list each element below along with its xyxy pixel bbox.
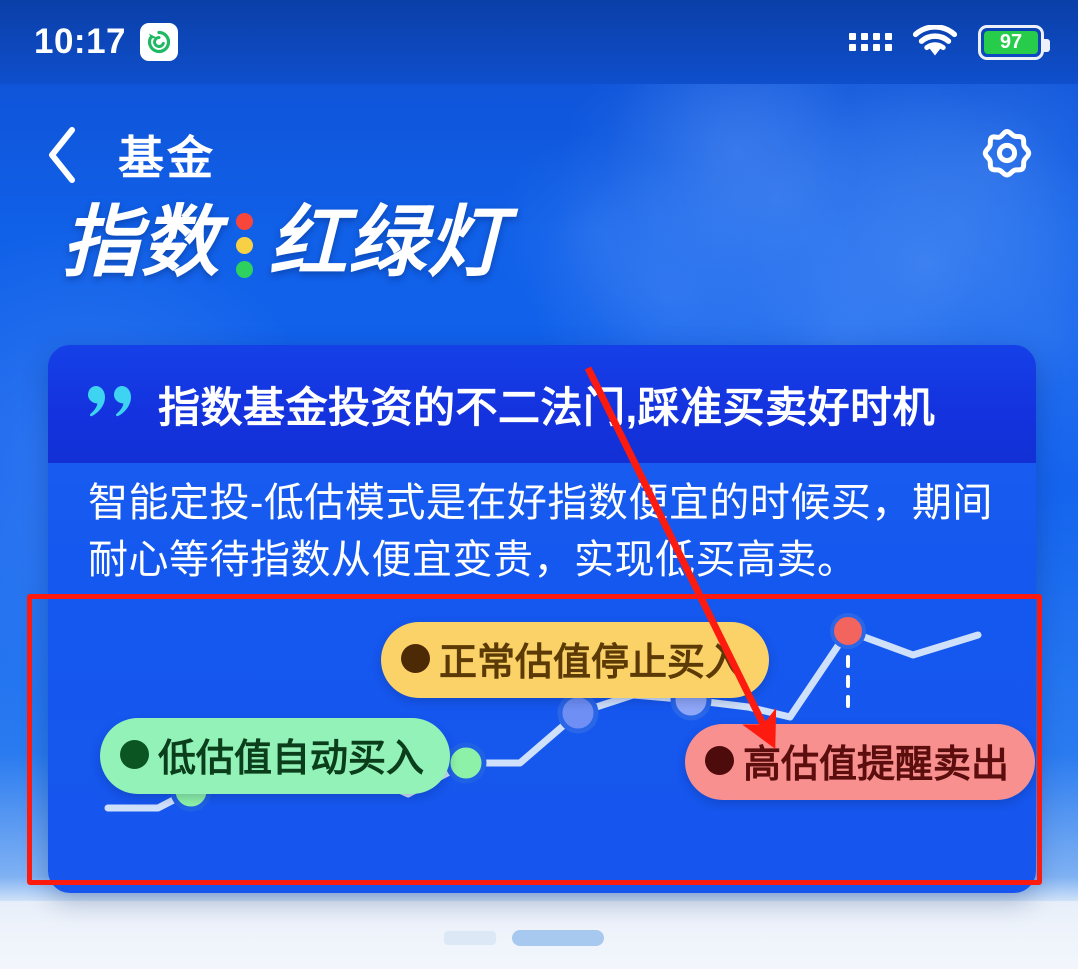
traffic-dot-green-icon xyxy=(236,261,253,278)
card-body-text: 智能定投-低估模式是在好指数便宜的时候买，期间耐心等待指数从便宜变贵，实现低买高… xyxy=(88,475,998,589)
traffic-light-dots-icon xyxy=(236,207,253,278)
home-ghost-bar xyxy=(444,931,496,945)
status-bar: 10:17 97 xyxy=(0,0,1078,84)
badge-normal-bullet-icon xyxy=(401,644,430,673)
badge-normal-valuation[interactable]: 正常估值停止买入 xyxy=(381,622,769,698)
badge-low-bullet-icon xyxy=(120,740,149,769)
card-banner: 指数基金投资的不二法门,踩准买卖好时机 xyxy=(48,345,1036,463)
quote-mark-icon xyxy=(86,384,138,428)
refresh-circle-icon xyxy=(140,23,178,61)
home-indicator-bar[interactable] xyxy=(512,930,604,946)
chart-point-high-1[interactable] xyxy=(832,615,864,647)
badge-high-valuation[interactable]: 高估值提醒卖出 xyxy=(685,724,1035,800)
status-bar-left: 10:17 xyxy=(34,22,178,62)
badge-normal-label: 正常估值停止买入 xyxy=(439,631,743,686)
phone-screen: 10:17 97 xyxy=(0,0,1078,969)
badge-low-valuation[interactable]: 低估值自动买入 xyxy=(100,718,450,794)
badge-high-bullet-icon xyxy=(705,746,734,775)
hero-title: 指数 红绿灯 xyxy=(62,203,506,281)
traffic-dot-yellow-icon xyxy=(236,237,253,254)
badge-low-label: 低估值自动买入 xyxy=(158,727,424,782)
page-title: 基金 xyxy=(118,122,216,188)
home-indicator-area xyxy=(0,901,1078,969)
hero-word-right: 红绿灯 xyxy=(269,203,506,281)
status-bar-right: 97 xyxy=(849,25,1044,60)
battery-fill: 97 xyxy=(984,31,1038,54)
battery-icon: 97 xyxy=(978,25,1044,60)
badge-high-label: 高估值提醒卖出 xyxy=(743,733,1009,788)
settings-button[interactable] xyxy=(968,114,1046,192)
navigation-bar: 基金 xyxy=(0,110,1078,200)
traffic-dot-red-icon xyxy=(236,213,253,230)
signal-dots-icon xyxy=(849,33,892,51)
chart-point-low-3[interactable] xyxy=(448,745,484,781)
gear-icon xyxy=(974,120,1040,186)
hero-word-left: 指数 xyxy=(62,203,220,281)
status-bar-clock: 10:17 xyxy=(34,22,126,62)
content-card: 指数基金投资的不二法门,踩准买卖好时机 智能定投-低估模式是在好指数便宜的时候买… xyxy=(48,345,1036,893)
card-banner-text: 指数基金投资的不二法门,踩准买卖好时机 xyxy=(158,374,935,435)
chevron-left-icon xyxy=(44,124,82,186)
back-button[interactable] xyxy=(24,116,102,194)
battery-level-label: 97 xyxy=(1000,32,1022,52)
valuation-chart: 低估值自动买入 正常估值停止买入 高估值提醒卖出 xyxy=(48,595,1036,893)
chart-point-normal-1[interactable] xyxy=(560,695,596,731)
wifi-icon xyxy=(912,25,958,59)
